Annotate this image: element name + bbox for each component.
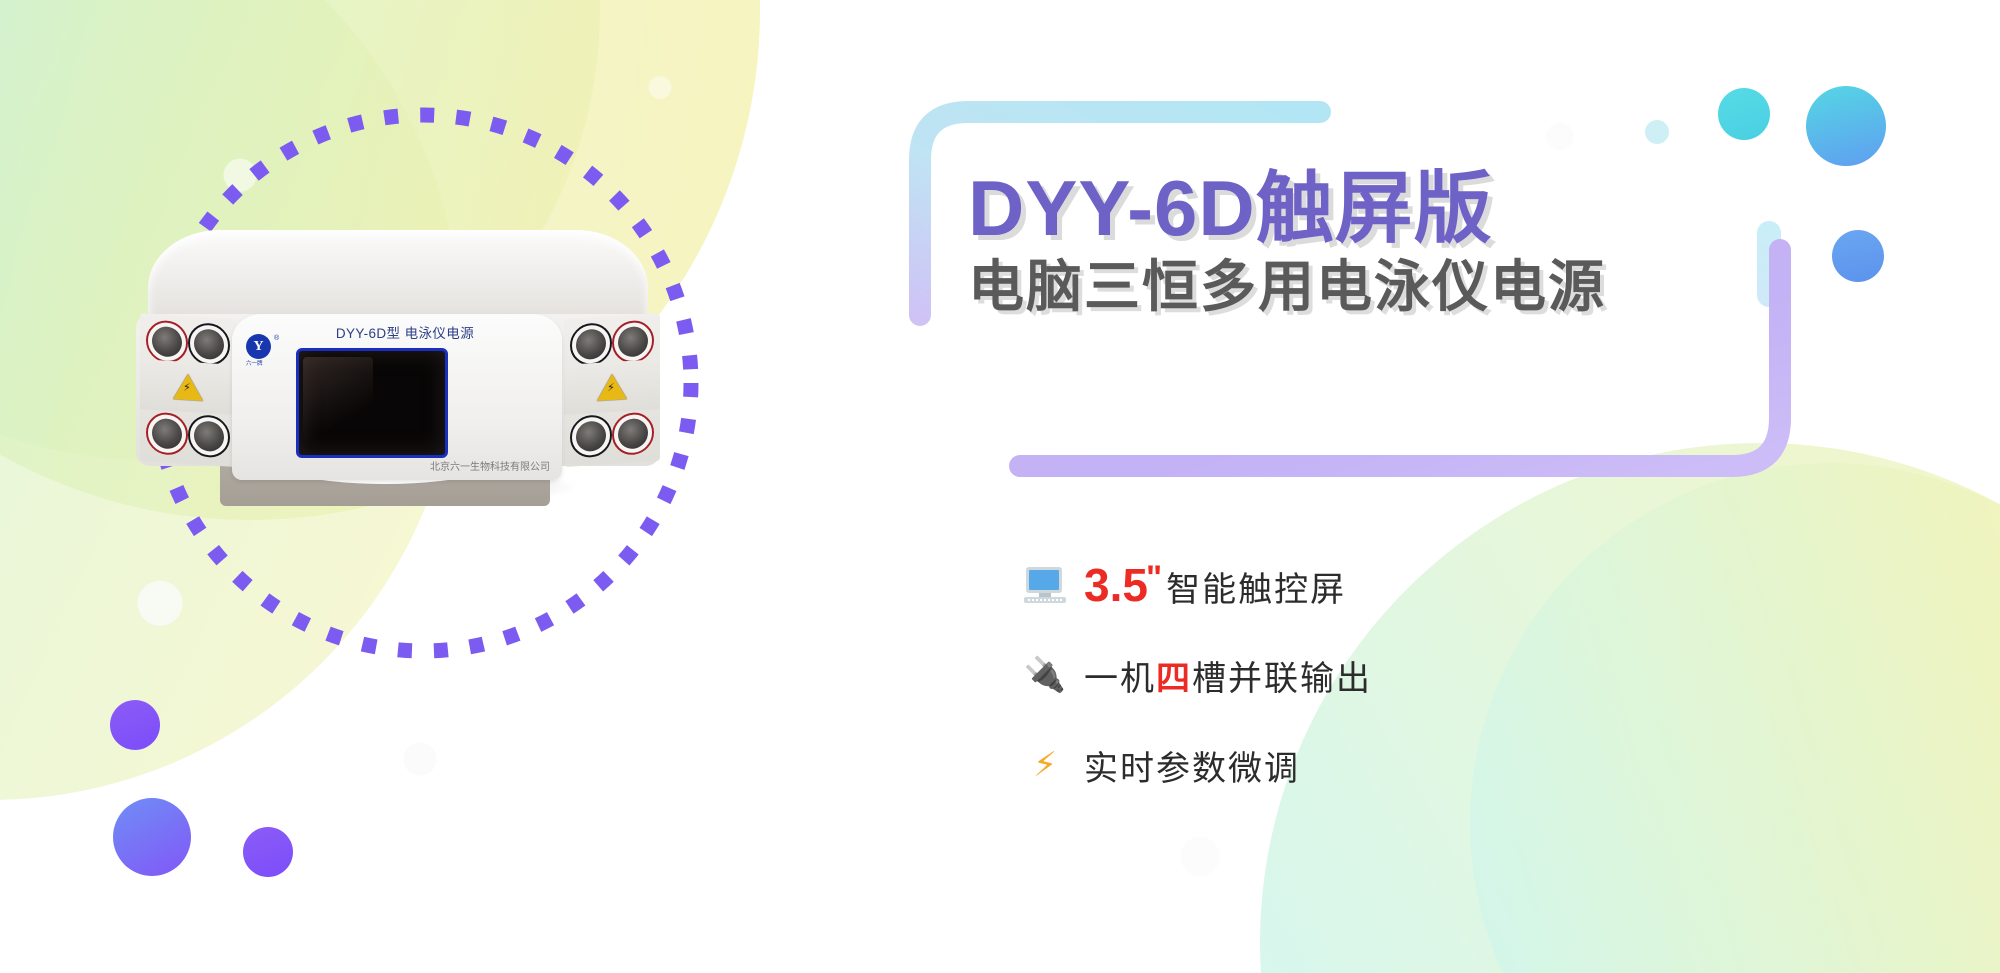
port-row-bottom-left <box>140 409 236 461</box>
product-touchscreen <box>296 348 448 458</box>
brand-logo: Y ® 六一牌 <box>246 334 276 364</box>
feature-text-realtime-tuning: 实时参数微调 <box>1084 741 1300 790</box>
registered-trademark-icon: ® <box>274 335 279 342</box>
accent-circle-purple-small <box>110 700 160 750</box>
feature-list: 3.5"智能触控屏 🔌 一机四槽并联输出 ⚡ 实时参数微调 <box>1022 540 1642 810</box>
accent-circle-blue-large <box>1806 86 1886 166</box>
headline-block: DYY-6D触屏版 电脑三恒多用电泳仪电源 <box>968 168 1708 317</box>
product-port-block-left <box>140 313 236 467</box>
lightning-bolt-icon: ⚡ <box>1022 742 1068 788</box>
banana-jack-red <box>618 326 648 358</box>
feature-value-screen-size: 3.5 <box>1084 558 1148 612</box>
feature-item-touchscreen: 3.5"智能触控屏 <box>1022 540 1642 630</box>
accent-circle-purple-large <box>113 798 191 876</box>
monitor-icon <box>1022 562 1068 608</box>
feature-suffix-four-slots: 槽并联输出 <box>1192 651 1372 700</box>
product-company-label: 北京六一生物科技有限公司 <box>270 458 560 473</box>
feature-text-four-slots: 一机四槽并联输出 <box>1084 651 1372 700</box>
banana-jack-red <box>152 326 182 358</box>
banana-jack-red <box>618 418 648 450</box>
accent-circle-purple-medium <box>243 827 293 877</box>
high-voltage-warning-icon <box>173 373 203 401</box>
accent-circle-cyan-tiny <box>1645 120 1669 144</box>
product-banner: DYY-6D型 电泳仪电源 Y ® 六一牌 北京六一生物科技有限公司 <box>0 0 2000 973</box>
accent-circle-blue-medium <box>1832 230 1884 282</box>
product-image: DYY-6D型 电泳仪电源 Y ® 六一牌 北京六一生物科技有限公司 <box>120 230 680 540</box>
banana-jack-black <box>576 420 606 452</box>
warning-label-right <box>564 359 660 415</box>
feature-item-realtime-tuning: ⚡ 实时参数微调 <box>1022 720 1642 810</box>
plug-icon: 🔌 <box>1022 652 1068 698</box>
banana-jack-black <box>194 420 224 452</box>
port-row-bottom-right <box>564 409 660 461</box>
banana-jack-black <box>194 328 224 360</box>
accent-pill-light-blue <box>1757 221 1781 307</box>
feature-label-touchscreen: 智能触控屏 <box>1166 562 1346 611</box>
feature-highlight-four: 四 <box>1156 651 1192 700</box>
product-model-label: DYY-6D型 电泳仪电源 <box>270 322 540 342</box>
feature-prefix-four-slots: 一机 <box>1084 651 1156 700</box>
accent-circle-cyan-small <box>1718 88 1770 140</box>
page-subtitle: 电脑三恒多用电泳仪电源 <box>968 256 1708 318</box>
high-voltage-warning-icon <box>597 373 627 401</box>
banana-jack-black <box>576 328 606 360</box>
brand-logo-subtext: 六一牌 <box>246 359 263 367</box>
warning-label-left <box>140 359 236 415</box>
banana-jack-red <box>152 418 182 450</box>
brand-logo-mark: Y <box>246 334 271 359</box>
feature-unit-inch: " <box>1146 559 1164 598</box>
feature-item-four-slots: 🔌 一机四槽并联输出 <box>1022 630 1642 720</box>
page-title: DYY-6D触屏版 <box>968 168 1708 250</box>
product-port-block-right <box>564 313 660 467</box>
feature-text-touchscreen: 3.5"智能触控屏 <box>1084 558 1346 612</box>
